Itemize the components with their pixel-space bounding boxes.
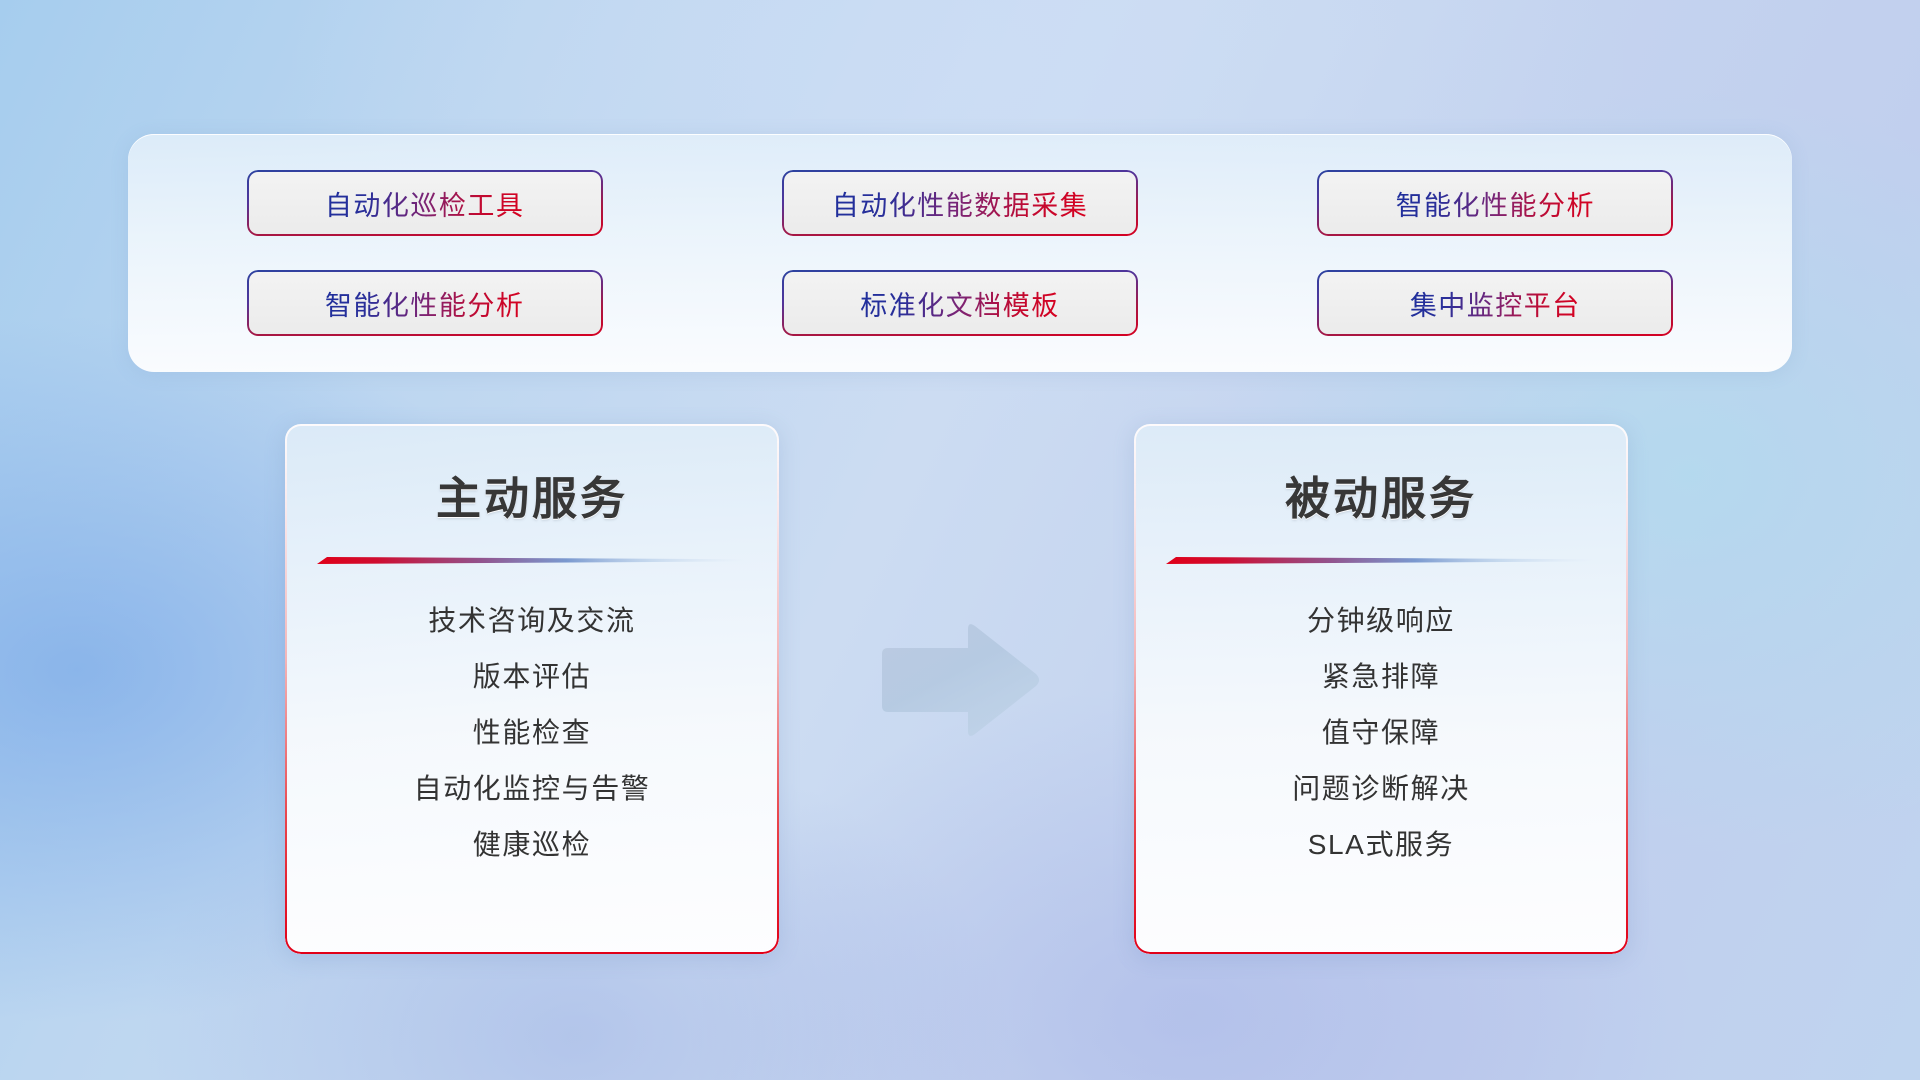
title-divider — [1166, 555, 1596, 565]
list-item: 技术咨询及交流 — [305, 593, 759, 649]
list-item: 紧急排障 — [1154, 649, 1608, 705]
capability-tag-5[interactable]: 集中监控平台 — [1317, 270, 1673, 336]
capability-tag-1[interactable]: 自动化性能数据采集 — [782, 170, 1138, 236]
list-item: 版本评估 — [305, 649, 759, 705]
service-card-proactive: 主动服务 技术咨询及交流 版本评估 性能检查 — [285, 424, 779, 954]
list-item: SLA式服务 — [1154, 817, 1608, 873]
capability-tag-3[interactable]: 智能化性能分析 — [247, 270, 603, 336]
list-item: 性能检查 — [305, 705, 759, 761]
title-divider — [317, 555, 747, 565]
list-item: 问题诊断解决 — [1154, 761, 1608, 817]
list-item: 自动化监控与告警 — [305, 761, 759, 817]
service-card-reactive: 被动服务 分钟级响应 紧急排障 值守保障 — [1134, 424, 1628, 954]
capability-tag-0[interactable]: 自动化巡检工具 — [247, 170, 603, 236]
capability-tag-panel: 自动化巡检工具 自动化性能数据采集 智能化性能分析 智能化性能分析 标准化文档模… — [128, 134, 1792, 372]
list-item: 分钟级响应 — [1154, 593, 1608, 649]
service-list-proactive: 技术咨询及交流 版本评估 性能检查 自动化监控与告警 健康巡检 — [285, 593, 779, 873]
capability-tag-label: 自动化性能数据采集 — [832, 184, 1089, 223]
list-item: 健康巡检 — [305, 817, 759, 873]
card-title-reactive: 被动服务 — [1134, 462, 1628, 527]
capability-tag-4[interactable]: 标准化文档模板 — [782, 270, 1138, 336]
service-list-reactive: 分钟级响应 紧急排障 值守保障 问题诊断解决 SLA式服务 — [1134, 593, 1628, 873]
infographic-canvas: 自动化巡检工具 自动化性能数据采集 智能化性能分析 智能化性能分析 标准化文档模… — [0, 0, 1920, 1080]
list-item: 值守保障 — [1154, 705, 1608, 761]
capability-tag-label: 集中监控平台 — [1410, 284, 1581, 323]
capability-tag-label: 智能化性能分析 — [1396, 184, 1596, 223]
capability-tag-label: 自动化巡检工具 — [325, 184, 525, 223]
card-title-proactive: 主动服务 — [285, 462, 779, 527]
capability-tag-label: 标准化文档模板 — [860, 284, 1060, 323]
capability-tag-label: 智能化性能分析 — [325, 284, 525, 323]
capability-tag-2[interactable]: 智能化性能分析 — [1317, 170, 1673, 236]
arrow-right-icon — [876, 620, 1042, 740]
